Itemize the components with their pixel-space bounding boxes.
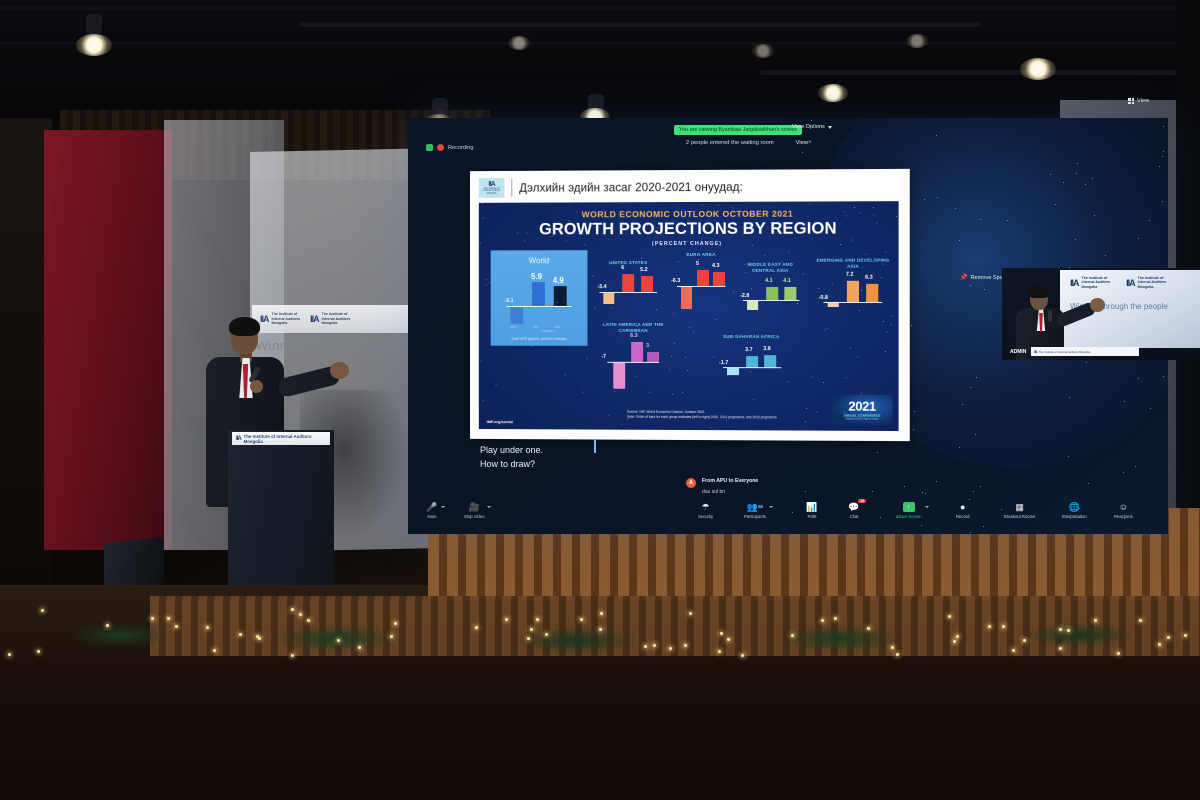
star [936, 135, 937, 136]
star [576, 211, 577, 212]
stage-light-housing [86, 14, 102, 34]
shield-icon: ☂ [700, 502, 712, 512]
star [1163, 151, 1164, 152]
spotlight-video-panel: 📌 Remove Spotlight IIA The Institute of … [946, 262, 1200, 362]
recording-label: Recording [448, 145, 474, 151]
garland-light [527, 637, 530, 640]
star [1123, 472, 1124, 473]
toolbar-label: Breakout Rooms [1004, 514, 1035, 519]
participant-name: ADMIN [1010, 349, 1026, 355]
garland-light [358, 646, 361, 649]
star [975, 434, 976, 435]
value-eda-2021: 7.2 [846, 272, 854, 278]
star [569, 220, 570, 221]
chat-sender: From APU to Everyone [702, 478, 758, 484]
value-lac-2020: -7 [601, 354, 606, 360]
value-world-2022: 4.9 [553, 276, 564, 285]
chart-source-note: Source: IMF, World Economic Outlook, Oct… [627, 410, 778, 421]
star [891, 324, 892, 325]
toolbar-button-polls[interactable]: 📊 Polls [806, 502, 818, 519]
star [924, 199, 925, 200]
star [959, 447, 960, 448]
star [483, 400, 484, 401]
shared-slide: IIA The Institute of Internal Auditors M… [470, 169, 910, 441]
speech-bubble-icon: 💬 12 [848, 502, 860, 512]
star [697, 430, 698, 431]
toolbar-button-mute[interactable]: 🎤 Mute [426, 502, 438, 519]
star [637, 326, 638, 327]
star [904, 486, 905, 487]
star [1149, 220, 1150, 221]
chevron-up-icon[interactable] [769, 506, 773, 508]
toolbar-label: Participants [744, 514, 766, 519]
annotation-line-2: How to draw? [480, 458, 543, 472]
star [712, 226, 713, 227]
garland-light [151, 617, 154, 620]
star [809, 204, 810, 205]
stage-light [752, 44, 774, 58]
bar-world-2021 [532, 282, 545, 306]
chevron-up-icon[interactable] [925, 506, 929, 508]
toolbar-label: Mute [427, 514, 436, 519]
star [521, 339, 522, 340]
ceiling-beam [760, 70, 1200, 75]
star [1105, 255, 1106, 256]
panel-title-emerging-asia: EMERGING AND DEVELOPING ASIA [814, 258, 893, 270]
bar-world-2022 [554, 286, 567, 306]
chart-supertitle: WORLD ECONOMIC OUTLOOK OCTOBER 2021 [479, 208, 899, 219]
star [716, 319, 717, 320]
value-meca-2022: 4.1 [783, 278, 791, 284]
chart-panel-sub-saharan-africa: SUB-SAHARAN AFRICA -1.7 3.7 3.8 [715, 334, 787, 389]
tile-podium-sign: IIA The Institute of Internal Auditors M… [1031, 347, 1139, 356]
toolbar-button-participants[interactable]: 👥66 Participants [744, 502, 766, 519]
star [678, 261, 679, 262]
recording-indicator[interactable]: Recording [426, 144, 474, 151]
star [751, 288, 752, 289]
chart-panel-united-states: UNITED STATES -3.4 6 5.2 [595, 260, 661, 312]
pin-icon: 📌 [960, 274, 967, 281]
garland-light [644, 645, 647, 648]
star [792, 296, 793, 297]
garland-light [307, 619, 310, 622]
value-world-2020: -3.1 [504, 298, 513, 304]
star [556, 305, 557, 306]
iia-mark: IIA [1034, 349, 1036, 354]
stage-light [508, 36, 530, 50]
star [980, 219, 981, 220]
waiting-room-view-button[interactable]: View [796, 140, 808, 146]
garland-light [1094, 619, 1097, 622]
star [832, 284, 833, 285]
star [812, 376, 813, 377]
garland-light [37, 650, 40, 653]
world-bars: -3.1 5.9 4.9 2020 2021 2022 Projections [491, 268, 588, 330]
star [861, 289, 862, 290]
garland-light [8, 653, 11, 656]
iia-mark: IIA [1126, 278, 1135, 288]
star [486, 284, 487, 285]
star [1085, 184, 1086, 185]
value-euro-2022: 4.3 [712, 263, 720, 269]
bar-eda-2022 [866, 284, 878, 302]
chart-title: GROWTH PROJECTIONS BY REGION [479, 219, 899, 239]
star [583, 392, 584, 393]
toolbar-button-chat[interactable]: 💬 12 Chat [848, 502, 860, 519]
star [862, 266, 863, 267]
star [641, 258, 642, 259]
panel-title-latin-america: LATIN AMERICA AND THE CARIBBEAN [597, 322, 669, 334]
garland-light [834, 617, 837, 620]
ceiling-beam [300, 22, 980, 27]
star [962, 404, 963, 405]
tile-logo-row: IIA The Institute of Internal Auditors M… [1060, 270, 1200, 289]
iia-org-name: The Institute of Internal Auditors Mongo… [1138, 276, 1167, 289]
view-options-button[interactable]: View Options [792, 124, 832, 130]
bar-ssa-2021 [746, 356, 758, 367]
garland-light [599, 628, 602, 631]
grid-squares-icon: ▦ [1014, 502, 1026, 512]
garland-light [896, 653, 899, 656]
star [789, 252, 790, 253]
garland-light [175, 625, 178, 628]
slide-header: IIA The Institute of Internal Auditors M… [470, 169, 910, 202]
star [1163, 126, 1164, 127]
garland-light [1139, 619, 1142, 622]
star [1055, 204, 1056, 205]
people-icon: 👥66 [749, 502, 761, 512]
star [608, 239, 609, 240]
iia-mark: IIA [310, 314, 319, 324]
garland-light [1067, 629, 1070, 632]
star [713, 356, 714, 357]
star [859, 310, 860, 311]
bar-ssa-2020 [727, 368, 739, 375]
star [747, 343, 748, 344]
panel-title-euro-area: EURO AREA [673, 252, 729, 258]
star [751, 214, 752, 215]
star [731, 206, 732, 207]
star [613, 307, 614, 308]
star [505, 254, 506, 255]
divider [511, 179, 512, 197]
value-world-2021: 5.9 [531, 272, 542, 281]
participant-video-tile[interactable]: IIA The Institute of Internal Auditors M… [1002, 268, 1200, 360]
star [787, 381, 788, 382]
toolbar-label: Stop Video [464, 514, 484, 519]
garland-light [41, 609, 44, 612]
star [554, 333, 555, 334]
star [887, 331, 888, 332]
star [614, 390, 615, 391]
iia-org-name: The Institute of Internal Auditors Mongo… [272, 312, 301, 325]
star [880, 517, 881, 518]
star [699, 411, 700, 412]
star [844, 212, 845, 213]
garland-light [167, 617, 170, 620]
garland-light [1059, 628, 1062, 631]
star [1050, 174, 1051, 175]
star [1162, 156, 1163, 157]
world-caption: (real GDP growth, percent change) [491, 337, 588, 341]
star [1068, 456, 1069, 457]
star [671, 356, 672, 357]
iia-logo: IIA The Institute of Internal Auditors M… [1126, 276, 1166, 289]
value-ssa-2020: -1.7 [719, 360, 728, 366]
star [865, 253, 866, 254]
star [656, 309, 657, 310]
participant-count: 66 [758, 505, 763, 509]
garland-light [1012, 649, 1015, 652]
star [846, 216, 847, 217]
garland-light [291, 608, 294, 611]
share-screen-icon: ↑ [903, 502, 915, 512]
star [622, 424, 623, 425]
bar-us-2020 [603, 293, 614, 304]
garland-light [106, 624, 109, 627]
toolbar-button-security[interactable]: ☂ Security [698, 502, 713, 519]
garland-light [1117, 652, 1120, 655]
star [752, 245, 753, 246]
star [877, 223, 878, 224]
garland-light [1158, 643, 1161, 646]
garland-light [475, 626, 478, 629]
garland-light [720, 632, 723, 635]
slide-title: Дэлхийн эдийн засаг 2020-2021 онуудад: [519, 180, 743, 194]
iia-mark: IIA [260, 314, 269, 324]
star [586, 358, 587, 359]
star [819, 287, 820, 288]
view-label: View [1137, 98, 1149, 104]
chevron-up-icon[interactable] [487, 506, 491, 508]
bar-eda-2021 [847, 281, 859, 302]
iia-mark: IIA [236, 436, 241, 442]
toolbar-button-stop-video[interactable]: 🎥 Stop Video [464, 502, 484, 519]
star [566, 240, 567, 241]
star [805, 421, 806, 422]
star [557, 302, 558, 303]
close-icon[interactable]: × [808, 140, 812, 146]
star [1075, 239, 1076, 240]
star [658, 227, 659, 228]
star [750, 371, 751, 372]
bar-mecа-2020 [747, 301, 758, 310]
chat-unread-badge: 12 [858, 499, 866, 503]
bar-us-2022 [641, 276, 653, 292]
star [726, 421, 727, 422]
star [859, 212, 860, 213]
star [480, 243, 481, 244]
iia-org-name: The Institute of Internal Auditors Mongo… [322, 312, 351, 325]
view-layout-button[interactable]: View [1128, 98, 1149, 104]
star [564, 374, 565, 375]
annotation-text: Play under one. How to draw? [480, 444, 543, 472]
annotation-line-1: Play under one. [480, 444, 543, 458]
star [970, 387, 971, 388]
star [850, 347, 851, 348]
garland-light [891, 646, 894, 649]
star [872, 491, 873, 492]
star [481, 361, 482, 362]
star [921, 525, 922, 526]
star [718, 205, 719, 206]
star [909, 421, 910, 422]
record-dot-icon [437, 144, 444, 151]
star [733, 292, 734, 293]
toolbar-button-reactions[interactable]: ☺ Reactions [1114, 502, 1133, 519]
star [826, 301, 827, 302]
bar-lac-2020 [613, 363, 625, 389]
waiting-room-text: 2 people entered the waiting room [686, 140, 774, 146]
star [1094, 215, 1095, 216]
star [725, 286, 726, 287]
garland-light [741, 654, 744, 657]
panel-title-sub-saharan-africa: SUB-SAHARAN AFRICA [715, 334, 787, 340]
star [877, 452, 878, 453]
stage-light [818, 84, 848, 102]
star [925, 493, 926, 494]
conference-tagline: INSIGHT INTO THE FUTURE [846, 418, 878, 421]
star [1138, 238, 1139, 239]
bar-chart-icon: 📊 [806, 502, 818, 512]
bar-meca-2021 [766, 287, 778, 300]
star [1150, 408, 1151, 409]
iia-logo: IIA The Institute of Internal Auditors M… [479, 178, 505, 198]
toolbar-label: Interpretation [1062, 514, 1087, 519]
star [518, 233, 519, 234]
star [983, 526, 984, 527]
star [592, 275, 593, 276]
star [486, 279, 487, 280]
star [1079, 508, 1080, 509]
bar-us-2021 [622, 274, 634, 292]
chat-body: From APU to Everyone duu sul bn [702, 478, 758, 495]
toolbar-label: Polls [807, 514, 816, 519]
chevron-up-icon[interactable] [441, 506, 445, 508]
presenter-hand [330, 362, 349, 379]
chevron-down-icon [828, 126, 832, 129]
star [482, 217, 483, 218]
star [568, 208, 569, 209]
star [937, 197, 938, 198]
grid-view-icon [1128, 98, 1134, 104]
presenter-hair [229, 317, 260, 336]
value-us-2021: 6 [621, 265, 624, 271]
stage-light [906, 34, 928, 48]
star [698, 259, 699, 260]
smiley-icon: ☺ [1117, 502, 1129, 512]
garland-light [337, 639, 340, 642]
star [922, 492, 923, 493]
bar-meca-2022 [784, 287, 796, 300]
iia-logo: IIA The Institute of Internal Auditors M… [310, 312, 350, 325]
video-camera-icon: 🎥 [468, 502, 480, 512]
toolbar-label: Share Screen [896, 514, 922, 519]
garland-light [956, 635, 959, 638]
garland-light [505, 618, 508, 621]
star [687, 370, 688, 371]
star [844, 412, 845, 413]
garland-light [580, 618, 583, 621]
garland-light [1002, 625, 1005, 628]
toolbar-button-share-screen[interactable]: ↑ Share Screen [896, 502, 922, 519]
garland-light [213, 649, 216, 652]
toolbar-button-breakout-rooms[interactable]: ▦ Breakout Rooms [1004, 502, 1035, 519]
star [672, 394, 673, 395]
star [526, 232, 527, 233]
star [897, 517, 898, 518]
iia-logo: IIA The Institute of Internal Auditors M… [1070, 276, 1110, 289]
tile-podium-text: The Institute of Internal Auditors Mongo… [1039, 350, 1091, 354]
star [811, 237, 812, 238]
star [797, 303, 798, 304]
garland-light [1059, 647, 1062, 650]
star [674, 343, 675, 344]
star [885, 351, 886, 352]
chart-panel-latin-america: LATIN AMERICA AND THE CARIBBEAN -7 6.3 3 [597, 322, 669, 396]
garland-light [536, 618, 539, 621]
star [1162, 201, 1163, 202]
star [586, 216, 587, 217]
garland-light [988, 625, 991, 628]
star [882, 264, 883, 265]
bar-ssa-2022 [764, 355, 776, 367]
star [744, 264, 745, 265]
garland-light [684, 644, 687, 647]
star [913, 429, 914, 430]
star [811, 120, 812, 121]
chat-notification[interactable]: A From APU to Everyone duu sul bn [686, 478, 758, 495]
star [1124, 401, 1125, 402]
star [1086, 362, 1087, 363]
chart-panel-emerging-asia: EMERGING AND DEVELOPING ASIA -0.8 7.2 6.… [814, 258, 893, 321]
view-options-label: View Options [792, 124, 825, 130]
imf-chart: WORLD ECONOMIC OUTLOOK OCTOBER 2021 GROW… [479, 201, 899, 431]
star [581, 284, 582, 285]
garland-light [821, 619, 824, 622]
star [764, 254, 765, 255]
star [854, 207, 855, 208]
star [883, 321, 884, 322]
toolbar-label: Security [698, 514, 713, 519]
garland-light [239, 633, 242, 636]
star [682, 392, 683, 393]
star [685, 357, 686, 358]
star [908, 414, 909, 415]
star [608, 414, 609, 415]
star [750, 225, 751, 226]
star [955, 208, 956, 209]
star [669, 369, 670, 370]
star [1088, 483, 1089, 484]
text-cursor [594, 440, 596, 453]
screen-share-banner: You are viewing Byambaa Jargalsaikhan's … [674, 125, 802, 135]
red-wall-panel [44, 130, 172, 550]
toolbar-button-record[interactable]: ● Record [956, 502, 970, 519]
podium-sign: IIA The Institute of Internal Auditors M… [232, 432, 330, 445]
bar-euro-2020 [681, 287, 692, 309]
iia-org-name: The Institute of Internal Auditors Mongo… [1082, 276, 1111, 289]
toolbar-button-interpretation[interactable]: 🌐 Interpretation [1062, 502, 1087, 519]
garland-light [1184, 634, 1187, 637]
bar-euro-2022 [713, 272, 725, 286]
star [636, 376, 637, 377]
garland-light [653, 644, 656, 647]
star [875, 435, 876, 436]
garland-light [530, 628, 533, 631]
waiting-room-notification: 2 people entered the waiting room View [686, 140, 808, 146]
star [551, 308, 552, 309]
